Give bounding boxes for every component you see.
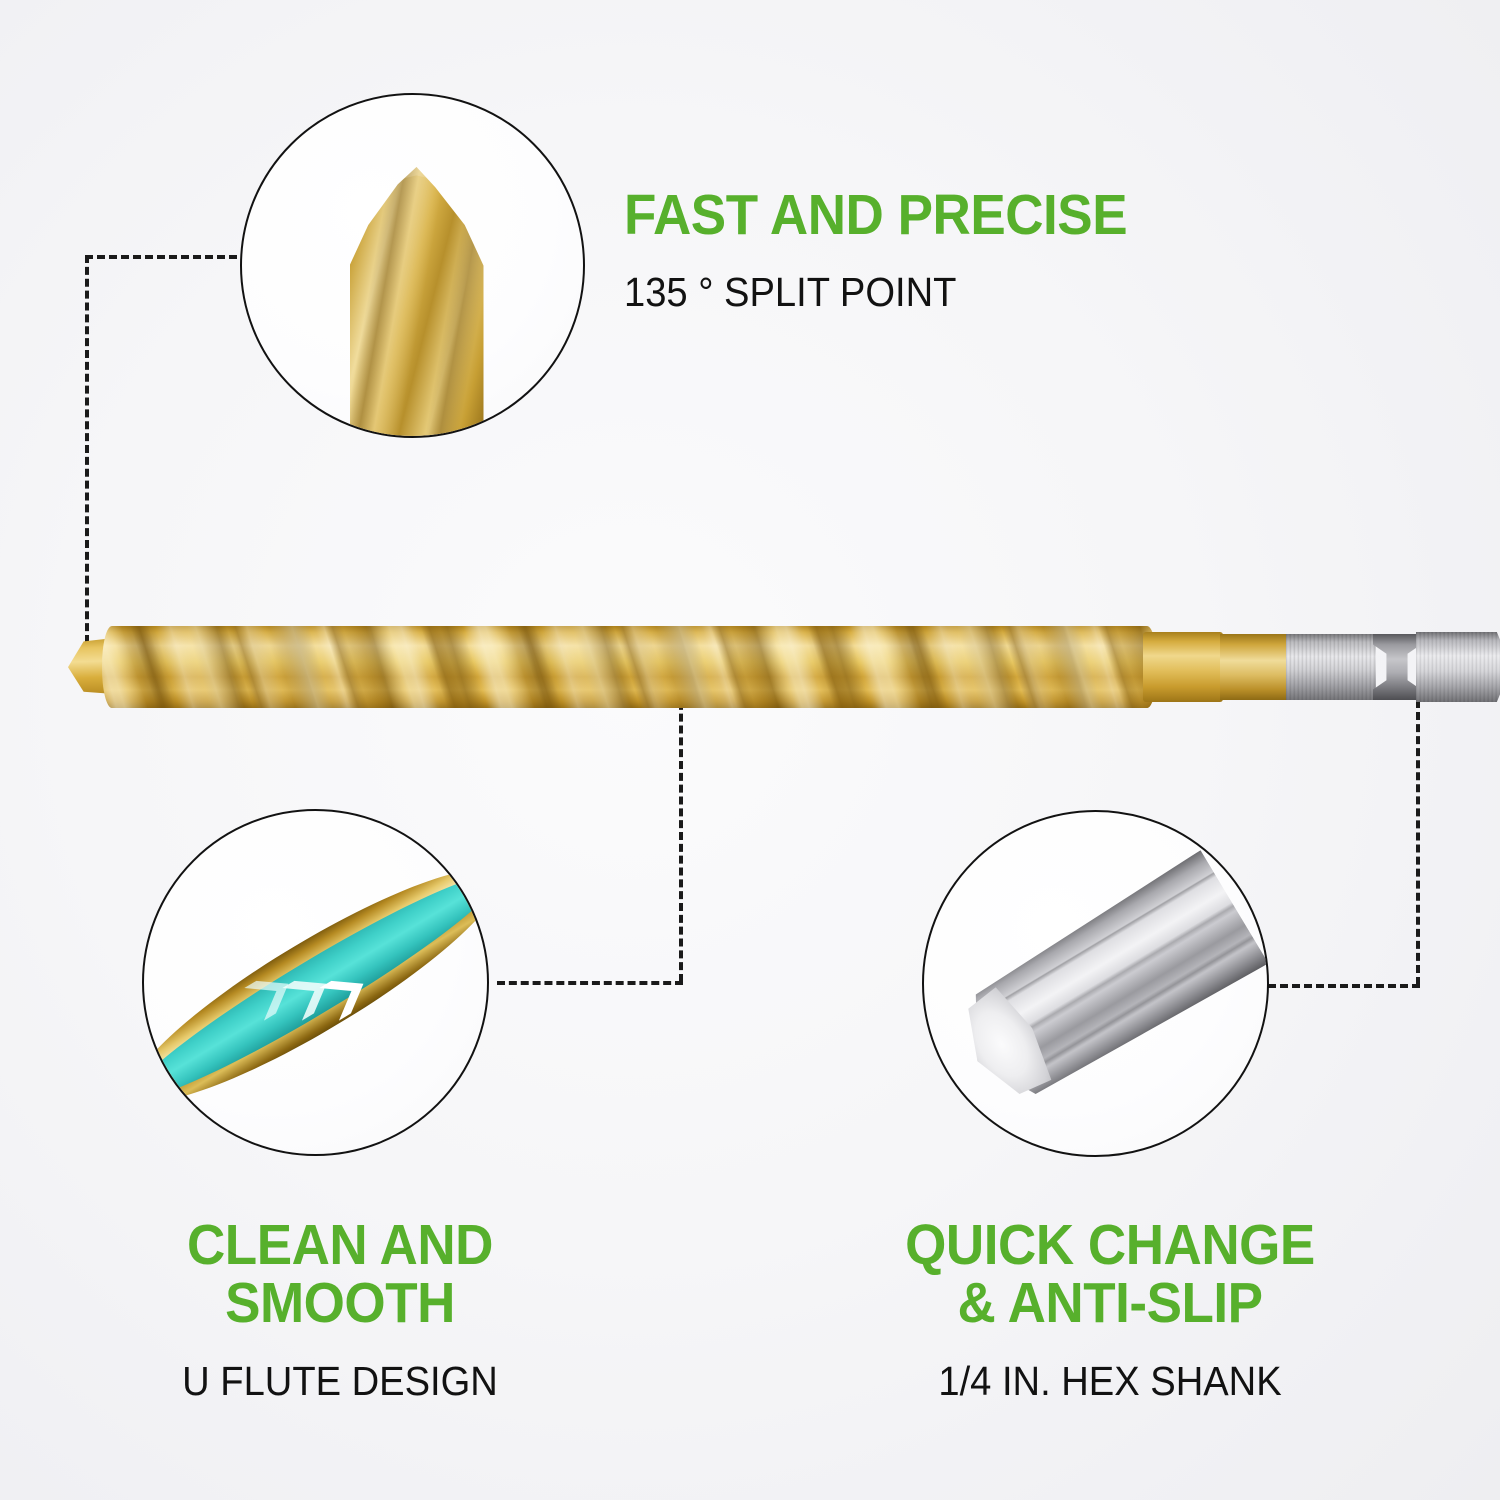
- feature-headline-quick: QUICK CHANGE & ANTI-SLIP: [831, 1216, 1389, 1332]
- drill-bit-flute-grooves: [102, 626, 1157, 708]
- drill-bit-neck: [1143, 632, 1223, 702]
- drill-bit-hex-steel-segment: [1286, 634, 1376, 700]
- feature-headline-clean: CLEAN AND SMOOTH: [61, 1216, 619, 1332]
- callout-line-shank-vertical: [1416, 700, 1420, 985]
- u-flute-illustration: [144, 811, 487, 1154]
- drill-bit-hex-shank-end: [1416, 632, 1500, 702]
- feature-subline-clean: U FLUTE DESIGN: [61, 1360, 619, 1403]
- callout-line-flute-vertical: [679, 690, 683, 982]
- callout-line-point-vertical: [85, 255, 89, 643]
- hex-shank-facets: [943, 850, 1268, 1118]
- drill-point-closeup-circle: [240, 93, 585, 438]
- feature-headline-quick-line2: & ANTI-SLIP: [831, 1274, 1389, 1332]
- feature-headline-clean-line1: CLEAN AND: [61, 1216, 619, 1274]
- drill-bit-product-image: [68, 612, 1420, 720]
- infographic-canvas: FAST AND PRECISE 135 ° SPLIT POINT CLEAN…: [0, 0, 1500, 1500]
- hex-shank-illustration: [943, 850, 1268, 1118]
- callout-line-flute-horizontal: [497, 981, 683, 985]
- feature-headline-fast: FAST AND PRECISE: [624, 186, 1127, 244]
- feature-headline-clean-line2: SMOOTH: [61, 1274, 619, 1332]
- hex-shank-closeup-circle: [922, 810, 1269, 1157]
- drill-point-flute-shading: [350, 167, 484, 438]
- callout-line-point-horizontal: [85, 255, 237, 259]
- u-flute-closeup-circle: [142, 809, 489, 1156]
- drill-bit-retention-groove: [1373, 634, 1421, 700]
- feature-subline-quick: 1/4 IN. HEX SHANK: [831, 1360, 1389, 1403]
- feature-subline-fast: 135 ° SPLIT POINT: [624, 271, 956, 314]
- drill-bit-hex-gold-segment: [1220, 634, 1288, 700]
- feature-headline-quick-line1: QUICK CHANGE: [831, 1216, 1389, 1274]
- callout-line-shank-horizontal: [1268, 984, 1420, 988]
